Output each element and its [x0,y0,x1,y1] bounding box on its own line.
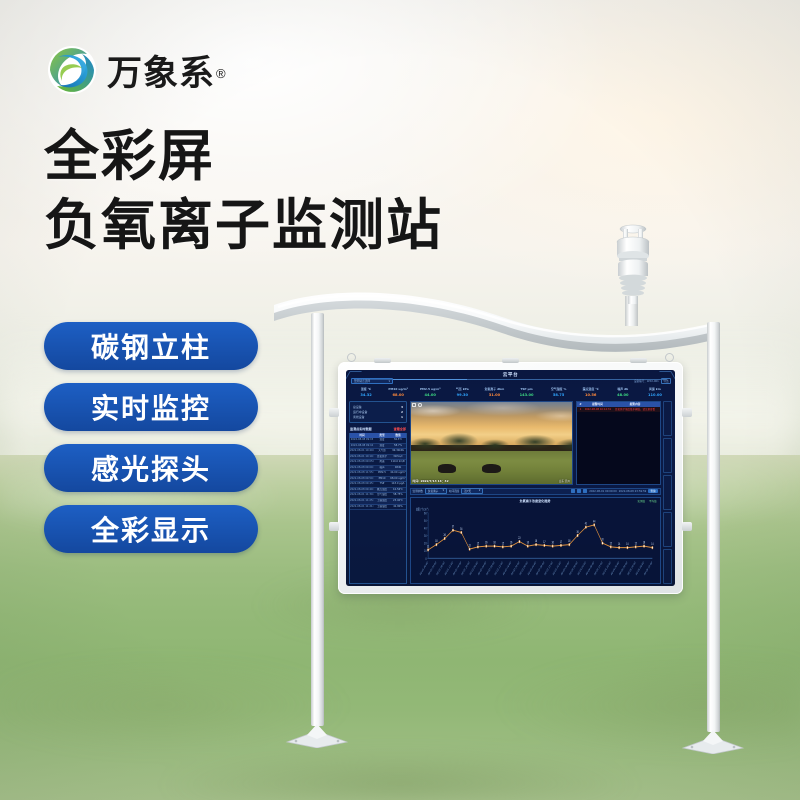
center-column: 时间: 2022/7/13 16：42 山东 滨州 #报警时间报警内容 1202… [410,401,661,584]
table-cell: 99.30kPa [390,449,406,454]
legend-item-0: 实测值 [637,499,645,503]
trend-chart-panel: 负氧离子浓度变化趋势 实测值 平均值 0102030405060浓度 (个/cm… [410,497,661,584]
svg-text:15: 15 [501,541,503,546]
svg-text:18: 18 [435,538,437,543]
table-cell: 110.0 km/h [390,460,406,465]
table-cell: 2022-08-08 09:10 [350,444,374,449]
svg-text:14: 14 [651,541,653,546]
display-bezel: 云平台 监测站点选择 ▾ 设备编号：WXX-001 导出 温度 ℃34.32PM… [338,362,683,594]
metric-value: 31.00 [478,392,510,398]
svg-text:08-05 12:00: 08-05 12:00 [643,560,653,577]
fullscreen-icon[interactable] [412,403,416,407]
svg-text:30: 30 [424,533,427,538]
svg-text:15: 15 [609,541,611,546]
alarm-panel[interactable]: #报警时间报警内容 12022-08-08 10:12:31负氧离子浓度低于阈值… [576,401,661,485]
side-panel-3[interactable] [663,475,672,510]
camera-cow-1 [438,464,456,473]
dashboard-title: 云平台 [346,372,675,378]
metric-5: TSP μm143.00 [510,387,542,400]
table-cell: 2022-08-01 11:25:18 [350,499,374,504]
table-cell: 温度 [374,438,390,443]
table-cell: 2022-08-08 09:45:12 [350,482,374,487]
table-cell: 58.7% [390,444,406,449]
metric-3: 气压 kPa99.30 [446,387,478,400]
mount-ring-left [347,353,356,362]
camera-watermark: 山东 滨州 [559,479,570,483]
svg-text:30: 30 [576,529,578,534]
table-title: 监测点实时数据 [350,426,372,431]
table-cell: 23.40℃ [390,499,406,504]
param-chevron-down-icon: ▾ [443,489,444,493]
svg-text:18: 18 [534,538,536,543]
svg-text:16: 16 [510,540,512,545]
screen-area: 云平台 监测站点选择 ▾ 设备编号：WXX-001 导出 温度 ℃34.32PM… [346,370,675,586]
camera-and-alarm-row: 时间: 2022/7/13 16：42 山东 滨州 #报警时间报警内容 1202… [410,401,661,485]
table-cell: 44.00 ug/m³ [390,471,406,476]
metric-0: 温度 ℃34.32 [350,387,382,400]
side-bracket-left-bottom [329,522,339,531]
device-id-text: 设备编号：WXX-001 [634,379,659,383]
metric-value: 44.00 [414,392,446,398]
table-cell: 风速 [374,460,390,465]
range-chevron-down-icon: ▾ [479,489,480,493]
metric-7: 露点温度 ℃10.56 [575,387,607,400]
svg-text:14: 14 [626,541,628,546]
svg-text:浓度 (个/cm³): 浓度 (个/cm³) [415,506,428,512]
device-stat-box: 总设备3运行中设备2离线设备1 [349,401,407,423]
ultrasonic-weather-sensor-icon [604,222,662,304]
table-cell: 31Pcs/c [390,455,406,460]
metric-value: 58.75 [543,392,575,398]
svg-text:15: 15 [476,541,478,546]
mount-tab-left [374,358,391,363]
snapshot-icon[interactable] [418,403,422,407]
svg-text:16: 16 [642,540,644,545]
table-cell: 143.0 μg/L [390,482,406,487]
monitoring-station-product: 云平台 监测站点选择 ▾ 设备编号：WXX-001 导出 温度 ℃34.32PM… [0,0,800,800]
svg-text:16: 16 [485,540,487,545]
svg-text:41: 41 [584,521,586,526]
stat-label: 离线设备 [353,415,365,420]
svg-text:17: 17 [559,539,561,544]
table-cell: 土壤温度 [374,499,390,504]
table-cell: 空气湿度 [374,493,390,498]
carbon-steel-post-left [311,313,324,726]
trend-line-chart: 0102030405060浓度 (个/cm³)1108-01 00:001808… [413,504,658,581]
chevron-down-icon: ▾ [389,379,390,383]
alarm-cell: 负氧离子浓度低于阈值，请注意查看 [611,407,660,412]
side-bracket-right-top [682,408,692,417]
realtime-data-table[interactable]: 时间类型数值 2022-08-08 09:15温度34.3℃2022-08-08… [349,433,407,584]
svg-text:14: 14 [617,541,619,546]
metric-value: 110.00 [639,392,671,398]
svg-text:44: 44 [593,519,595,524]
query-button[interactable]: 查询 [648,489,657,493]
param-select-value: 负氧离子 [428,489,438,493]
legend-item-1: 平均值 [649,499,657,503]
svg-text:26: 26 [443,532,445,537]
metric-1: PM10 ug/m³68.00 [382,387,414,400]
table-cell: PM2.5 [374,471,390,476]
download-icon[interactable] [583,489,587,493]
mount-tab-center [502,358,519,363]
svg-text:10: 10 [424,549,427,554]
table-cell: 2022-08-01 11:21:30 [350,505,374,510]
station-select-value: 监测站点选择 [354,379,370,383]
svg-text:11: 11 [426,544,428,549]
param-label: 监测参数 [413,489,423,493]
table-cell: 2022-08-08 11:55:31 [350,471,374,476]
carbon-steel-post-right [707,322,720,732]
view-all-link[interactable]: 查看全部 [394,426,406,431]
metric-value: 48.00 [607,392,639,398]
svg-text:17: 17 [543,539,545,544]
range-select-value: 近7天 [464,489,471,493]
side-panel-4[interactable] [663,512,672,547]
alarm-body: 12022-08-08 10:12:31负氧离子浓度低于阈值，请注意查看 [577,407,660,412]
live-camera-feed[interactable]: 时间: 2022/7/13 16：42 山东 滨州 [410,401,574,485]
svg-text:22: 22 [518,535,520,540]
end-time-value[interactable]: 2022-08-08 23:59:59 [619,490,647,493]
svg-text:15: 15 [634,541,636,546]
right-side-panels [663,401,672,584]
metric-value: 99.30 [446,392,478,398]
table-cell: 48db [390,466,406,471]
alarm-cell: 2022-08-08 10:12:31 [585,407,611,412]
side-panel-2[interactable] [663,438,672,473]
dashboard-body: 总设备3运行中设备2离线设备1 监测点实时数据 查看全部 时间类型数值 2022… [349,401,672,584]
table-cell: 负氧离子 [374,455,390,460]
table-cell: 湿度 [374,444,390,449]
metric-4: 负氧离子 dbm31.00 [478,387,510,400]
table-row[interactable]: 2022-08-01 11:21:30土壤湿度41.80% [350,505,406,511]
device-stamp: 设备编号：WXX-001 导出 [634,378,671,384]
table-cell: 噪声 [374,466,390,471]
start-time-value[interactable]: 2022-08-01 00:00:00 [589,490,617,493]
table-cell: 2022-08-01 11:30:47 [350,493,374,498]
stat-value: 1 [401,415,403,420]
table-cell: 2022-08-08 09:15 [350,438,374,443]
table-cell: 41.80% [390,505,406,510]
camera-toolbar[interactable] [412,403,422,407]
cloud-platform-dashboard: 云平台 监测站点选择 ▾ 设备编号：WXX-001 导出 温度 ℃34.32PM… [346,370,675,586]
param-select[interactable]: 负氧离子▾ [425,488,447,494]
side-panel-1[interactable] [663,401,672,436]
side-bracket-left-top [329,408,339,417]
table-cell: 大气压 [374,449,390,454]
camera-timestamp: 时间: 2022/7/13 16：42 [413,479,449,483]
header-divider [354,379,667,384]
svg-text:16: 16 [526,540,528,545]
range-select[interactable]: 近7天▾ [461,488,483,494]
flange-base-right [681,728,745,754]
table-cell: 58.75% [390,493,406,498]
metric-value: 143.00 [510,392,542,398]
chart-control-bar[interactable]: 监测参数 负氧离子▾ 时间范围 近7天▾ [410,488,661,495]
station-select[interactable]: 监测站点选择 ▾ [351,378,393,384]
svg-text:16: 16 [493,540,495,545]
table-cell: 2022-08-08 09:40:10 [350,488,374,493]
export-button[interactable]: 导出 [661,378,671,384]
svg-text:16: 16 [551,540,553,545]
table-cell: 34.3℃ [390,438,406,443]
metric-strip: 温度 ℃34.32PM10 ug/m³68.00PM2.5 ug/m³44.00… [350,387,671,400]
table-cell: 2022-08-08 09:05:08 [350,460,374,465]
side-bracket-right-bottom [682,522,692,531]
svg-text:12: 12 [468,543,470,548]
mount-ring-right [665,353,674,362]
camera-cow-2 [482,464,501,474]
svg-text:18: 18 [568,538,570,543]
metric-value: 68.00 [382,392,414,398]
table-cell: PM10 [374,477,390,482]
metric-9: 风速 km110.00 [639,387,671,400]
range-label: 时间范围 [449,489,459,493]
alarm-cell: 1 [577,407,585,412]
chart-view-icon[interactable] [577,489,581,493]
table-cell: 2022-08-08 09:50:13 [350,477,374,482]
svg-text:34: 34 [460,526,462,531]
left-column: 总设备3运行中设备2离线设备1 监测点实时数据 查看全部 时间类型数值 2022… [349,401,407,584]
table-body: 2022-08-08 09:15温度34.3℃2022-08-08 09:10湿… [350,438,406,510]
table-cell: 68.00 ug/m³ [390,477,406,482]
table-cell: 2022-08-08 09:00:15 [350,466,374,471]
metric-2: PM2.5 ug/m³44.00 [414,387,446,400]
svg-text:40: 40 [424,526,427,531]
metric-8: 噪声 db48.00 [607,387,639,400]
svg-text:20: 20 [601,537,603,542]
metric-6: 空气湿度 %58.75 [543,387,575,400]
table-cell: 2022-08-01 10:10:11 [350,455,374,460]
table-cell: 露点温度 [374,488,390,493]
table-cell: 2022-08-01 10:40:08 [350,449,374,454]
svg-text:50: 50 [424,518,427,523]
stat-row: 离线设备1 [353,415,403,420]
alarm-row[interactable]: 12022-08-08 10:12:31负氧离子浓度低于阈值，请注意查看 [577,407,660,412]
table-cell: 10.56℃ [390,488,406,493]
table-view-icon[interactable] [571,489,575,493]
flange-base-left [285,722,349,748]
table-title-bar: 监测点实时数据 查看全部 [349,426,407,431]
table-cell: 土壤湿度 [374,505,390,510]
chart-legend: 实测值 平均值 [637,499,656,503]
metric-value: 34.32 [350,392,382,398]
side-panel-5[interactable] [663,549,672,584]
table-cell: TSP [374,482,390,487]
svg-text:37: 37 [451,524,453,529]
metric-value: 10.56 [575,392,607,398]
mount-tab-right [630,358,647,363]
